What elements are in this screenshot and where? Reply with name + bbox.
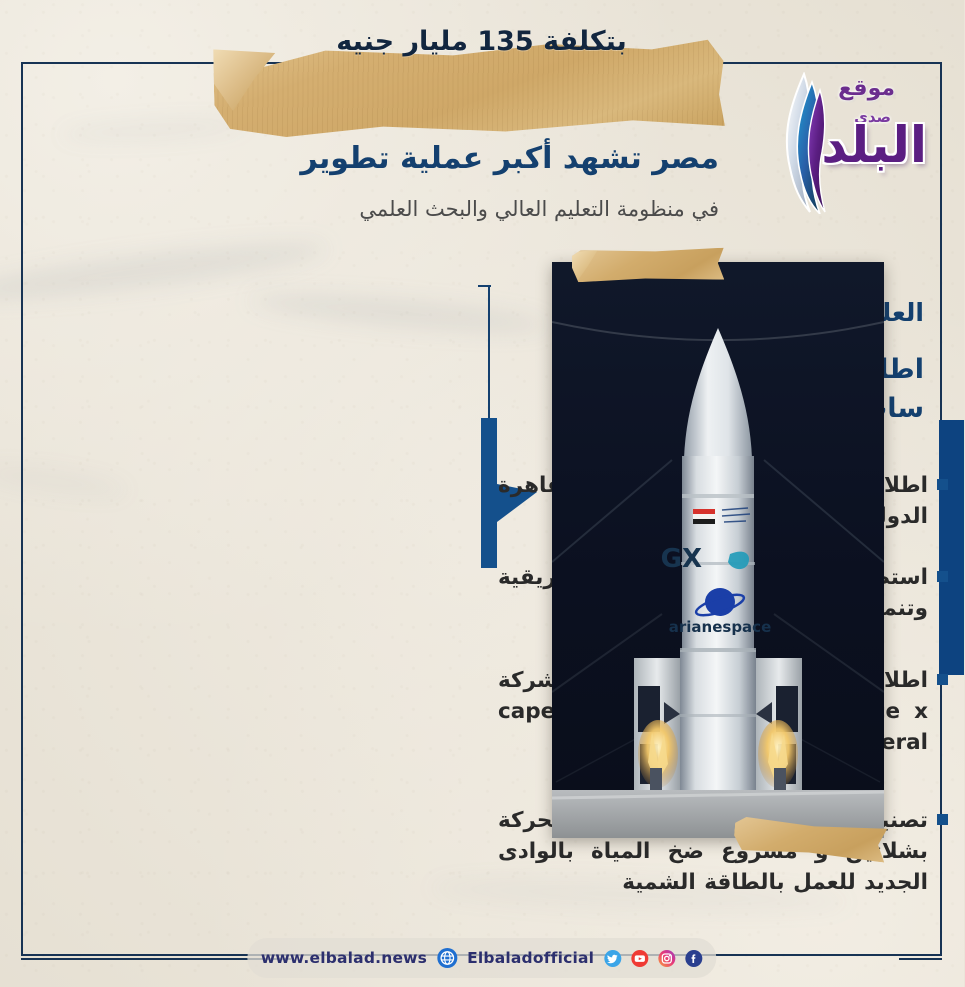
- flame-ribbon-icon: [761, 72, 827, 214]
- page-subtitle: في منظومة التعليم العالي والبحث العلمي: [240, 196, 720, 223]
- brand-word-mawqe: موقع: [839, 76, 896, 101]
- photo-tape-top: [573, 248, 726, 283]
- website-url[interactable]: www.elbalad.news: [262, 949, 428, 967]
- bullet-marker-icon: [938, 571, 949, 582]
- rocket-launch-illustration: GX arianespace: [553, 262, 885, 838]
- bullet-marker-icon: [938, 814, 949, 825]
- footer-social-bar: Elbaladofficial www.elbalad.news: [248, 938, 717, 978]
- instagram-icon[interactable]: [659, 950, 676, 967]
- bullet-marker-icon: [938, 479, 949, 490]
- twitter-icon[interactable]: [605, 950, 622, 967]
- globe-icon[interactable]: [438, 948, 458, 968]
- right-accent-tab: [940, 420, 965, 675]
- footer-rule-right: [900, 958, 943, 960]
- facebook-icon[interactable]: [686, 950, 703, 967]
- rocket-photo: GX arianespace: [553, 262, 885, 838]
- youtube-icon[interactable]: [632, 950, 649, 967]
- bullet-marker-icon: [938, 674, 949, 685]
- footer: Elbaladofficial www.elbalad.news: [0, 938, 965, 978]
- svg-text:GX: GX: [662, 544, 703, 574]
- social-handle[interactable]: Elbaladofficial: [468, 949, 595, 967]
- page-title: مصر تشهد أكبر عملية تطوير: [240, 140, 720, 178]
- photo-tape-fold: [573, 250, 600, 280]
- brand-logo[interactable]: موقع صدى البلد: [755, 68, 940, 218]
- headline-cost: بتكلفة 135 مليار جنيه: [0, 26, 965, 57]
- brand-word-elbalad: البلد: [822, 120, 928, 170]
- svg-text:arianespace: arianespace: [670, 618, 773, 636]
